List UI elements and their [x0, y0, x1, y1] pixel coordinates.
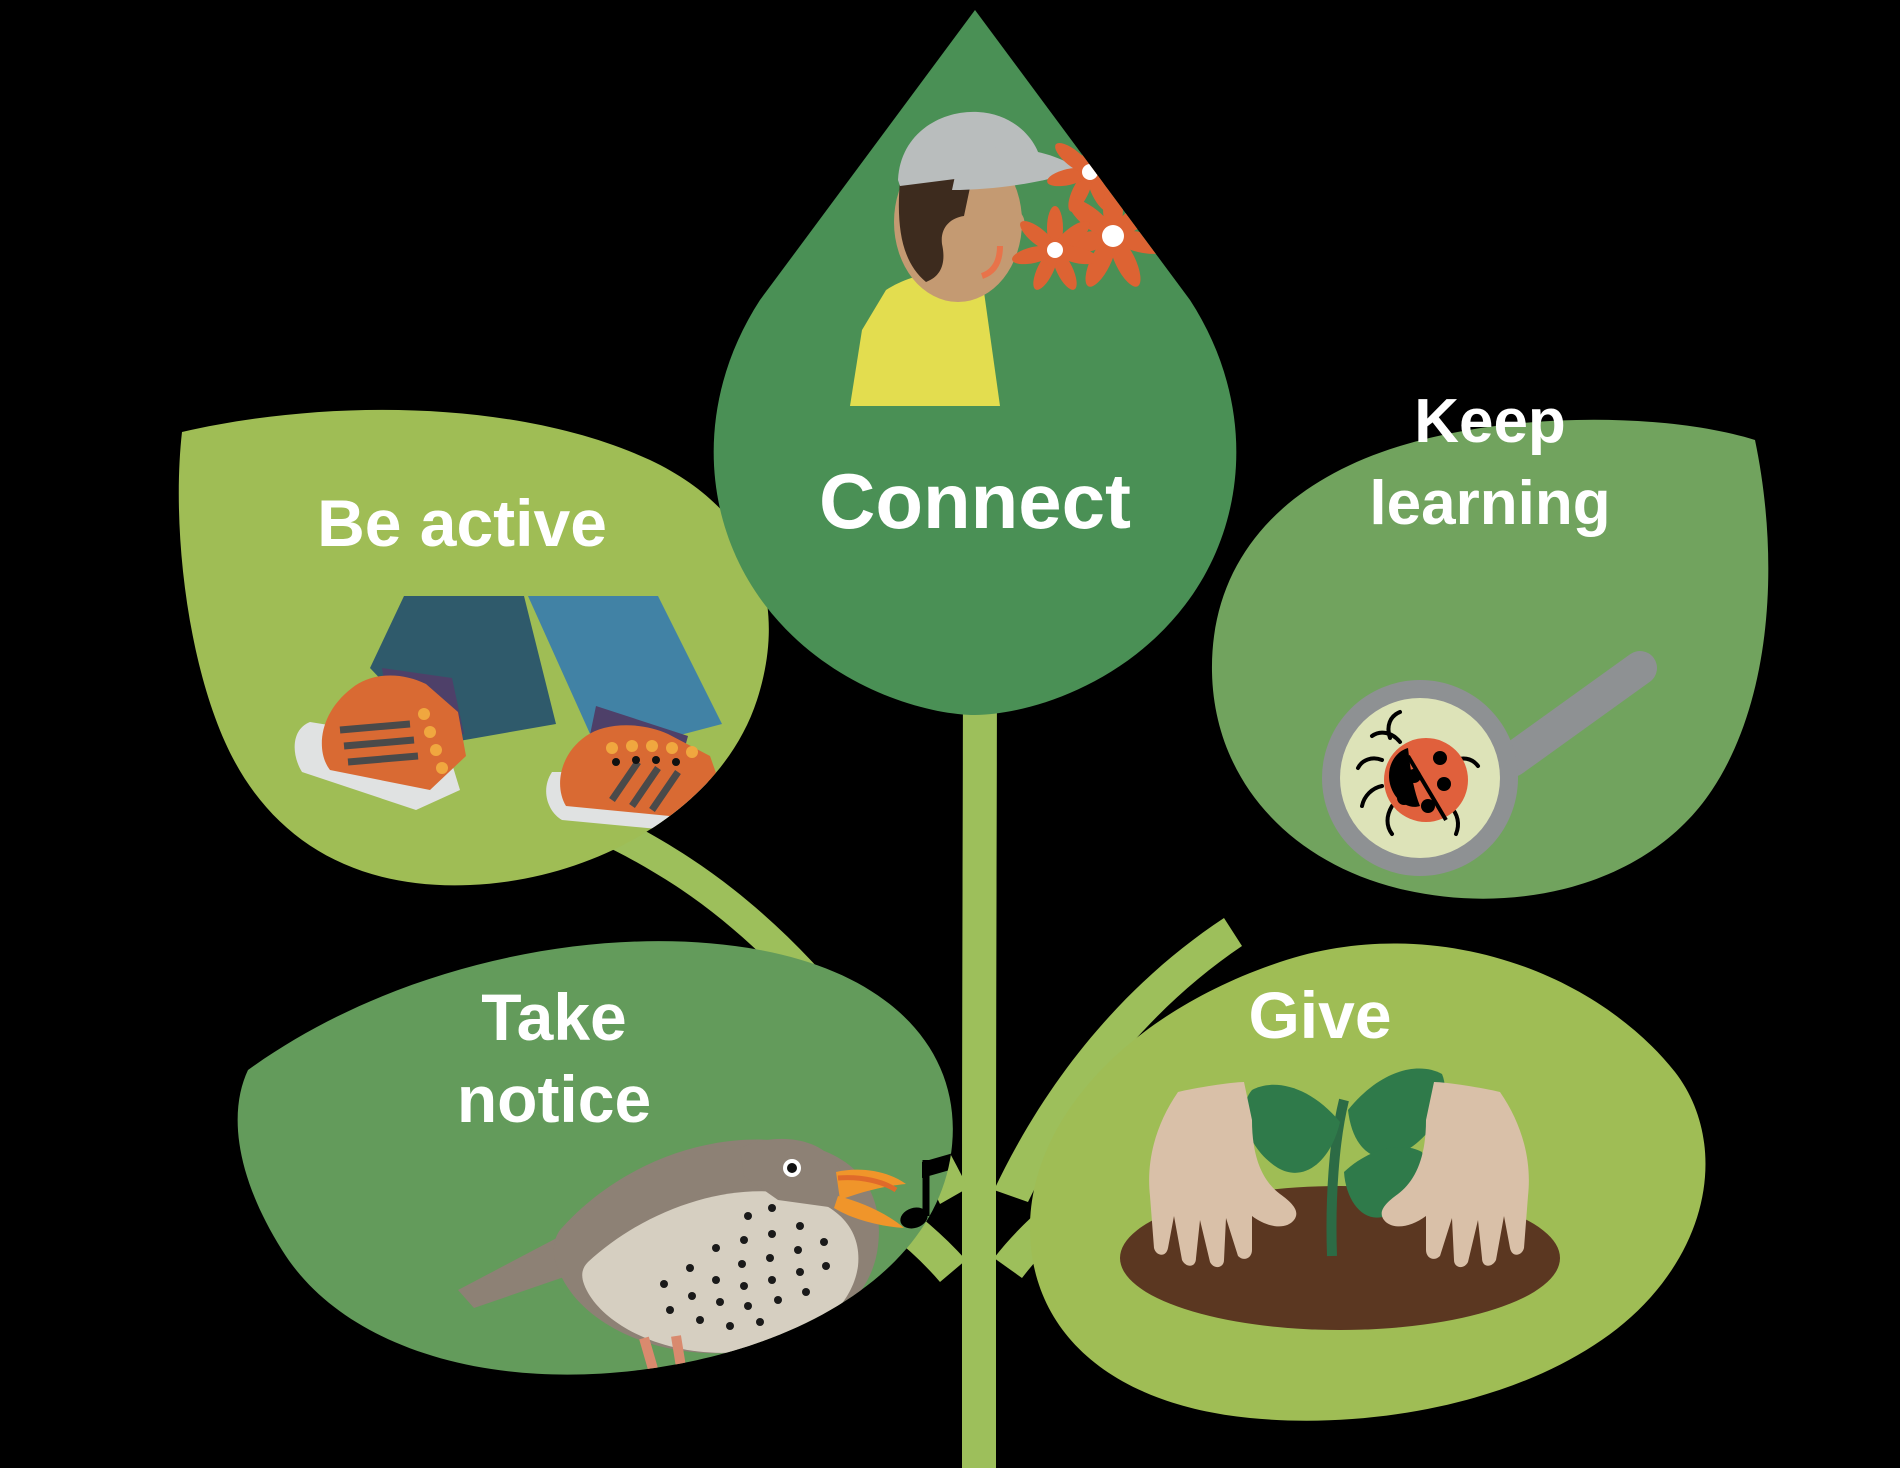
hands-planting-icon	[1120, 1069, 1560, 1330]
infographic-canvas: Take notice Give	[0, 0, 1900, 1468]
leaf-label-be-active: Be active	[317, 486, 607, 560]
leaf-label-give: Give	[1248, 978, 1391, 1052]
leaf-take-notice[interactable]: Take notice	[238, 941, 965, 1424]
leaf-label-keep-learning-line1: Keep	[1414, 387, 1566, 456]
leaf-label-connect: Connect	[819, 457, 1131, 545]
leaf-label-take-notice-line1: Take	[481, 980, 627, 1054]
five-ways-to-wellbeing-plant: Take notice Give	[0, 0, 1900, 1468]
leaf-keep-learning[interactable]: Keep learning	[1212, 387, 1768, 899]
leaf-label-keep-learning-line2: learning	[1369, 469, 1610, 538]
leaf-be-active[interactable]: Be active	[179, 410, 769, 885]
stem-main	[962, 640, 997, 1468]
leaf-label-take-notice-line2: notice	[457, 1062, 651, 1136]
leaf-connect[interactable]: Connect	[714, 10, 1237, 715]
